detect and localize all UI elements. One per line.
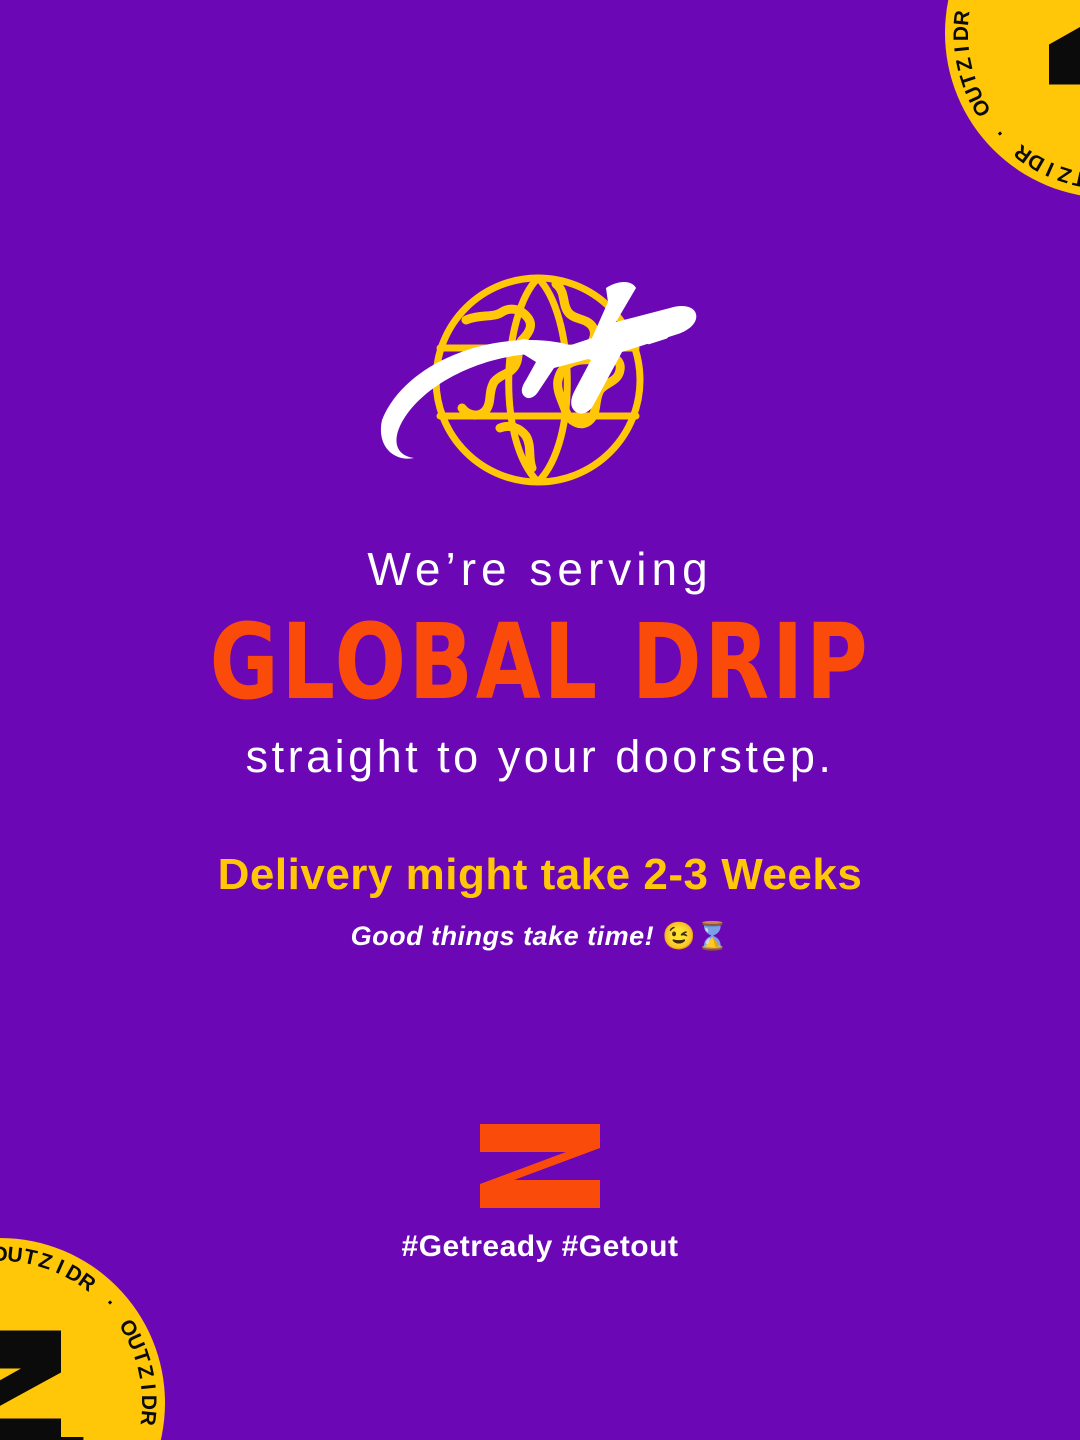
brand-badge-bottom-left: OUTZIDR·OUTZIDR·OUTZIDR·OUTZIDR·OUTZIDR·… bbox=[0, 1238, 165, 1440]
delivery-note-text: Delivery might take 2-3 Weeks bbox=[0, 853, 1080, 897]
brand-logo-z-icon bbox=[478, 1122, 602, 1210]
badge-ring-char: I bbox=[951, 44, 976, 53]
badge-ring-char: D bbox=[136, 1395, 160, 1411]
badge-ring-char: U bbox=[121, 1331, 150, 1356]
footer-block: #Getready #Getout bbox=[0, 1122, 1080, 1262]
badge-ring-char: O bbox=[113, 1315, 142, 1342]
hero-illustration bbox=[0, 270, 1080, 500]
badge-ring-char: Z bbox=[1054, 160, 1075, 187]
badge-ring-char: · bbox=[988, 121, 1011, 143]
badge-ring-char: R bbox=[950, 8, 976, 27]
badge-ring-char: T bbox=[956, 68, 983, 89]
badge-ring-char: D bbox=[61, 1260, 87, 1289]
copy-block: We’re serving GLOBAL DRIP straight to yo… bbox=[0, 546, 1080, 950]
wink-hourglass-emoji-icon: 😉⌛ bbox=[662, 921, 729, 951]
badge-ring-char: D bbox=[1023, 147, 1049, 176]
hashtags-text: #Getready #Getout bbox=[402, 1232, 679, 1262]
badge-ring-char: T bbox=[1070, 165, 1080, 191]
eyebrow-text: We’re serving bbox=[0, 546, 1080, 592]
badge-ring-char: R bbox=[134, 1409, 160, 1428]
subhead-text: straight to your doorstep. bbox=[0, 734, 1080, 779]
badge-ring-char: · bbox=[98, 1293, 121, 1315]
badge-ring-char: Z bbox=[952, 55, 978, 74]
badge-ring-char: I bbox=[135, 1383, 160, 1392]
reassurance-text: Good things take time! bbox=[351, 921, 655, 951]
brand-badge-top-right: OUTZIDR·OUTZIDR·OUTZIDR·OUTZIDR·OUTZIDR·… bbox=[945, 0, 1080, 198]
badge-ring-char: R bbox=[73, 1269, 100, 1298]
badge-ring-char: R bbox=[1009, 138, 1036, 167]
reassurance-line: Good things take time! 😉⌛ bbox=[0, 923, 1080, 950]
headline-text: GLOBAL DRIP bbox=[54, 610, 1026, 714]
badge-ring-char: T bbox=[127, 1347, 154, 1368]
poster-canvas: OUTZIDR·OUTZIDR·OUTZIDR·OUTZIDR·OUTZIDR·… bbox=[0, 0, 1080, 1440]
badge-ring-char: Z bbox=[132, 1363, 158, 1382]
badge-monogram-z-icon bbox=[0, 1326, 75, 1440]
badge-ring-char: U bbox=[961, 81, 990, 106]
badge-monogram-z-icon bbox=[1035, 0, 1080, 88]
badge-ring-char: I bbox=[1042, 156, 1058, 181]
globe-airplane-icon bbox=[370, 270, 710, 500]
badge-ring-char: O bbox=[967, 93, 996, 120]
badge-ring-char: D bbox=[950, 25, 974, 41]
